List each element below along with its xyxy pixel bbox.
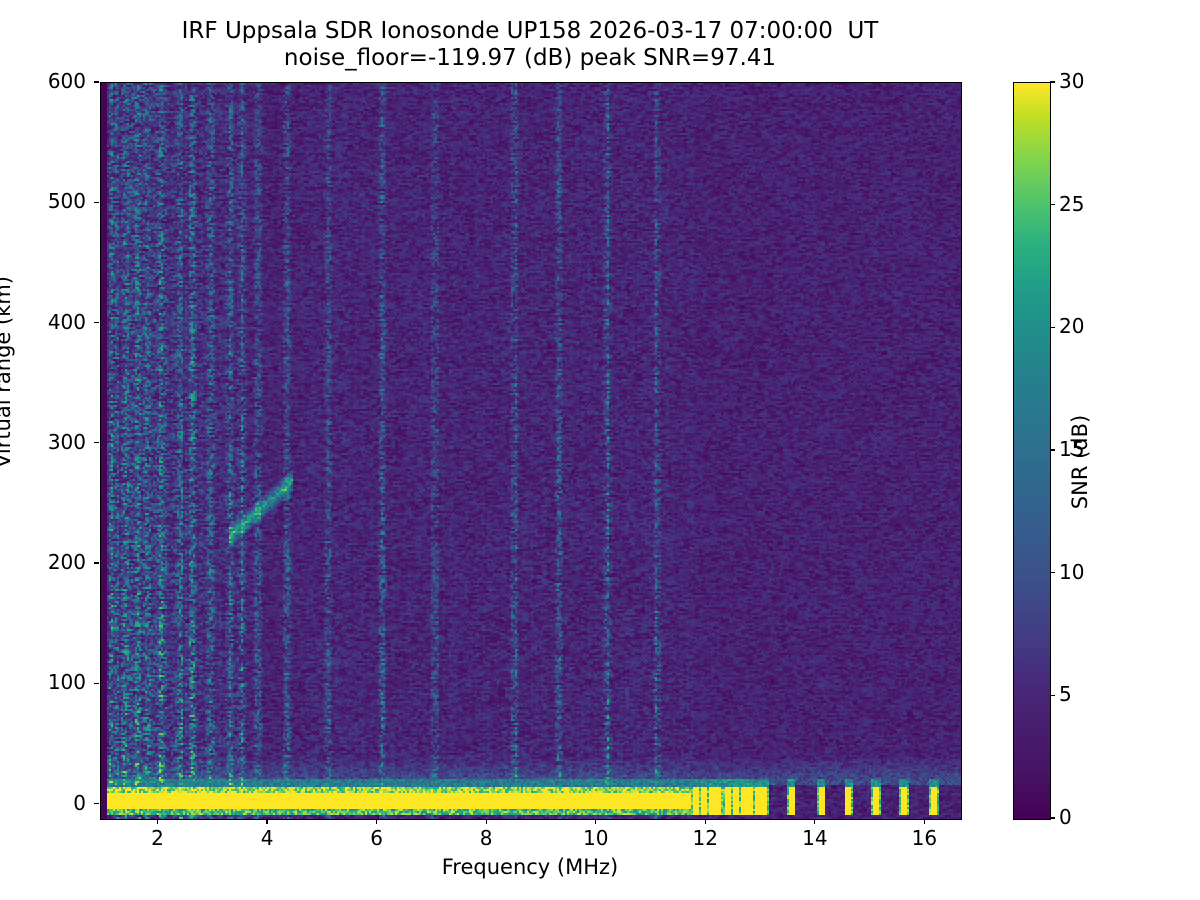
colorbar-tick-label: 0 (1059, 805, 1072, 829)
figure-title: IRF Uppsala SDR Ionosonde UP158 2026-03-… (0, 18, 1060, 72)
colorbar-tick-label: 5 (1059, 682, 1072, 706)
colorbar-tick-mark (1050, 327, 1055, 328)
colorbar-tick-mark (1050, 81, 1055, 82)
colorbar-tick-mark (1050, 204, 1055, 205)
x-tick-mark (486, 819, 487, 824)
colorbar (1013, 82, 1051, 820)
x-tick-label: 6 (342, 826, 412, 850)
y-tick-label: 200 (0, 550, 86, 574)
title-line-1: IRF Uppsala SDR Ionosonde UP158 2026-03-… (0, 18, 1060, 45)
y-tick-label: 300 (0, 430, 86, 454)
y-tick-mark (94, 202, 99, 203)
x-tick-label: 16 (889, 826, 959, 850)
x-tick-mark (266, 819, 267, 824)
y-tick-label: 100 (0, 670, 86, 694)
y-tick-mark (94, 683, 99, 684)
x-tick-mark (595, 819, 596, 824)
colorbar-tick-label: 30 (1059, 69, 1084, 93)
ionogram-heatmap-canvas (101, 83, 961, 819)
title-line-2: noise_floor=-119.97 (dB) peak SNR=97.41 (0, 45, 1060, 72)
x-tick-mark (376, 819, 377, 824)
y-tick-label: 400 (0, 310, 86, 334)
y-tick-mark (94, 562, 99, 563)
x-tick-label: 8 (451, 826, 521, 850)
x-tick-label: 14 (780, 826, 850, 850)
colorbar-label: SNR (dB) (1068, 312, 1092, 612)
colorbar-tick-mark (1050, 817, 1055, 818)
colorbar-tick-mark (1050, 572, 1055, 573)
y-tick-label: 600 (0, 69, 86, 93)
x-tick-mark (924, 819, 925, 824)
x-axis-label: Frequency (MHz) (100, 855, 960, 879)
x-tick-mark (814, 819, 815, 824)
colorbar-tick-label: 25 (1059, 192, 1084, 216)
y-tick-label: 0 (0, 791, 86, 815)
x-tick-label: 10 (561, 826, 631, 850)
y-tick-mark (94, 81, 99, 82)
colorbar-gradient (1014, 83, 1050, 819)
y-tick-label: 500 (0, 189, 86, 213)
y-tick-mark (94, 322, 99, 323)
y-tick-mark (94, 803, 99, 804)
x-tick-label: 4 (232, 826, 302, 850)
ionogram-figure: IRF Uppsala SDR Ionosonde UP158 2026-03-… (0, 0, 1200, 900)
colorbar-tick-mark (1050, 695, 1055, 696)
x-tick-label: 2 (123, 826, 193, 850)
ionogram-plot-area (100, 82, 962, 820)
colorbar-tick-mark (1050, 449, 1055, 450)
x-tick-mark (157, 819, 158, 824)
y-tick-mark (94, 442, 99, 443)
x-tick-label: 12 (670, 826, 740, 850)
x-tick-mark (705, 819, 706, 824)
